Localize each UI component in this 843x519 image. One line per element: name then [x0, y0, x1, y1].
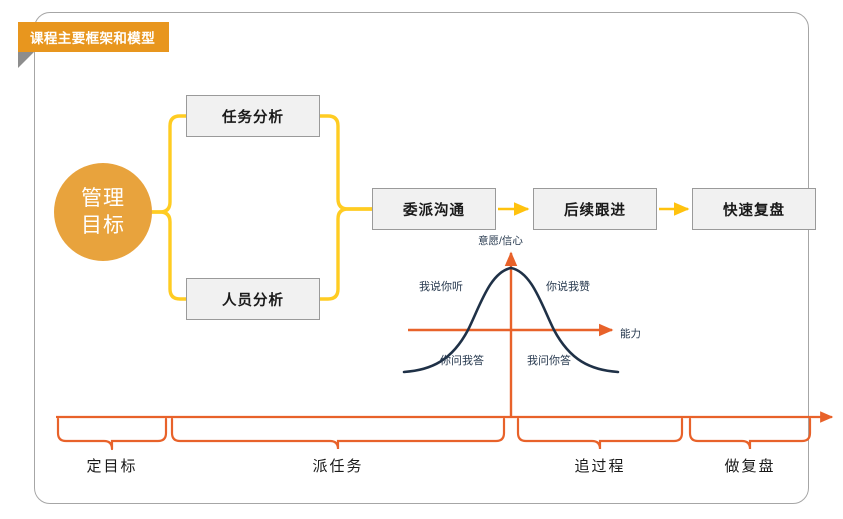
phase-bracket-do-review: [690, 419, 810, 449]
chart-label-lower-right: 我问你答: [527, 352, 571, 368]
phase-bracket-track-process: [518, 419, 682, 449]
box-people-analysis[interactable]: 人员分析: [186, 278, 320, 320]
chart-label-upper-left: 我说你听: [419, 278, 463, 294]
phase-label-do-review: 做复盘: [724, 455, 775, 476]
title-ribbon: 课程主要框架和模型: [18, 22, 169, 52]
box-task-analysis-label: 任务分析: [222, 106, 284, 127]
ribbon-fold-shadow: [18, 52, 34, 68]
box-follow-up-label: 后续跟进: [564, 199, 626, 220]
bell-curve-chart: [0, 0, 843, 519]
chart-label-upper-right: 你说我赞: [546, 278, 590, 294]
diagram-canvas: 管理 目标 任务分析 人员分析 委派沟通 后续跟进 快速复盘 意愿/信心 能力: [0, 0, 843, 519]
box-fast-review-label: 快速复盘: [723, 199, 785, 220]
chart-x-axis-label: 能力: [620, 326, 641, 341]
box-people-analysis-label: 人员分析: [222, 289, 284, 310]
root-node-line1: 管理: [81, 185, 125, 212]
phase-bracket-assign-task: [172, 419, 504, 449]
chart-y-axis-label: 意愿/信心: [478, 233, 523, 248]
chart-label-lower-left: 你问我答: [440, 352, 484, 368]
phase-label-set-goal: 定目标: [86, 455, 137, 476]
phase-bracket-set-goal: [58, 419, 166, 449]
phase-label-assign-task: 派任务: [312, 455, 363, 476]
box-delegation-label: 委派沟通: [403, 199, 465, 220]
box-task-analysis[interactable]: 任务分析: [186, 95, 320, 137]
box-follow-up[interactable]: 后续跟进: [533, 188, 657, 230]
box-fast-review[interactable]: 快速复盘: [692, 188, 816, 230]
box-delegation[interactable]: 委派沟通: [372, 188, 496, 230]
root-node-goal[interactable]: 管理 目标: [54, 163, 152, 261]
root-node-line2: 目标: [81, 212, 125, 239]
page-title: 课程主要框架和模型: [30, 27, 155, 47]
phase-label-track-process: 追过程: [574, 455, 625, 476]
